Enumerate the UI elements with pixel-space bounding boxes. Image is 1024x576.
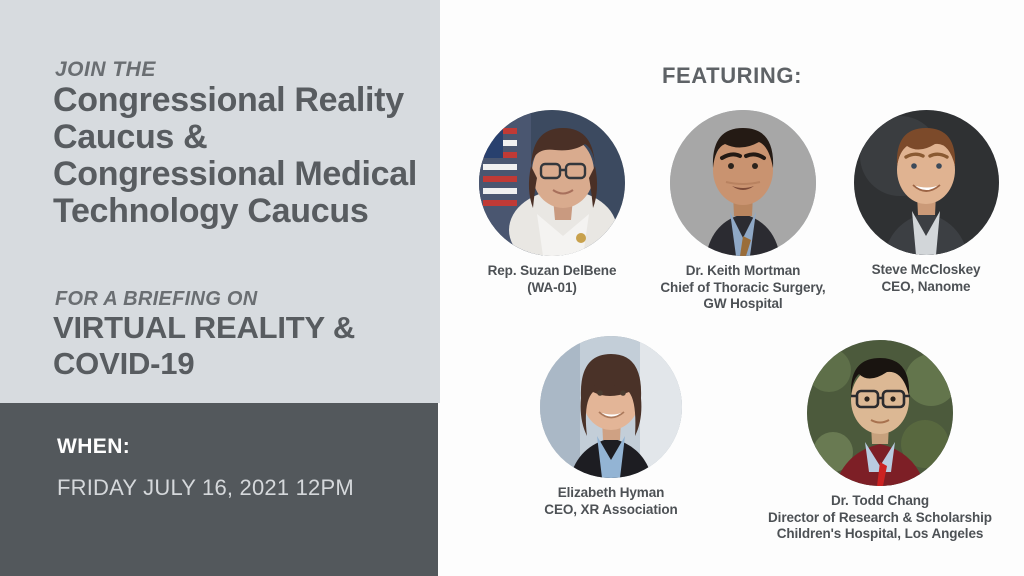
for-a-briefing-on-label: FOR A BRIEFING ON (55, 288, 258, 311)
event-flyer: JOIN THE Congressional Reality Caucus & … (0, 0, 1024, 576)
speakers-column: FEATURING: (440, 0, 1024, 576)
speaker-caption-3: Steve McCloskey CEO, Nanome (838, 262, 1014, 295)
speaker-card-1: Rep. Suzan DelBene (WA-01) (454, 110, 650, 296)
featuring-heading: FEATURING: (440, 63, 1024, 89)
speaker-caption-5: Dr. Todd Chang Director of Research & Sc… (735, 493, 1024, 543)
when-label: WHEN: (57, 435, 130, 459)
briefing-subject-title: VIRTUAL REALITY & COVID-19 (53, 310, 433, 382)
keith-mortman-portrait (670, 110, 816, 256)
steve-mccloskey-portrait (854, 110, 999, 255)
speaker-card-3: Steve McCloskey CEO, Nanome (838, 110, 1014, 295)
left-info-column: JOIN THE Congressional Reality Caucus & … (0, 0, 440, 576)
elizabeth-hyman-portrait (540, 336, 682, 478)
speaker-card-4: Elizabeth Hyman CEO, XR Association (513, 336, 709, 518)
caucus-headline: Congressional Reality Caucus & Congressi… (53, 82, 423, 230)
join-the-label: JOIN THE (55, 58, 156, 82)
speaker-caption-4: Elizabeth Hyman CEO, XR Association (513, 485, 709, 518)
speaker-caption-1: Rep. Suzan DelBene (WA-01) (454, 263, 650, 296)
speaker-caption-2: Dr. Keith Mortman Chief of Thoracic Surg… (645, 263, 841, 313)
speaker-card-2: Dr. Keith Mortman Chief of Thoracic Surg… (645, 110, 841, 313)
event-datetime: FRIDAY JULY 16, 2021 12PM (57, 473, 407, 502)
speaker-card-5: Dr. Todd Chang Director of Research & Sc… (735, 340, 1024, 543)
todd-chang-portrait (807, 340, 953, 486)
suzan-delbene-portrait (479, 110, 625, 256)
